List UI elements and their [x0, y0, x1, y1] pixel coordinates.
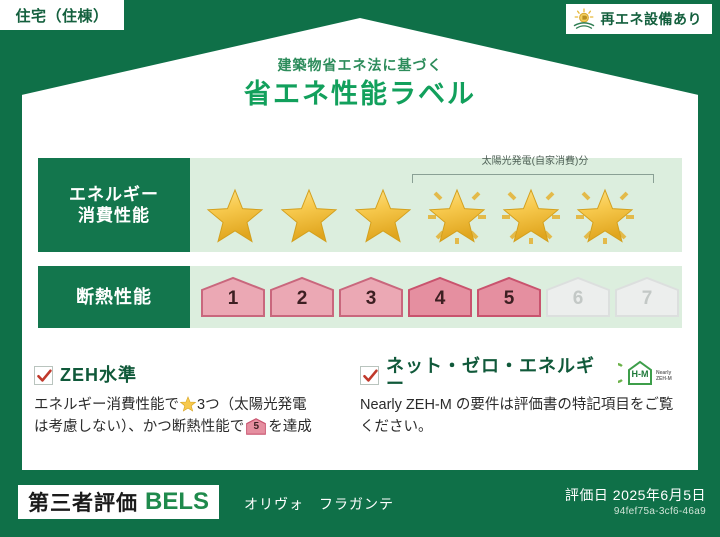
inline-house-badge-value: 5 [246, 422, 266, 432]
energy-stars-area: 太陽光発電(自家消費)分 [190, 158, 682, 252]
star-5-solar [494, 184, 568, 248]
insulation-level-5: 5 [476, 276, 542, 318]
inline-house-badge-icon: 5 [246, 418, 266, 435]
nze-checkbox[interactable] [360, 366, 379, 385]
insulation-performance-label: 断熱性能 [38, 266, 190, 328]
zeh-heading: ZEH水準 [60, 366, 137, 384]
insulation-level-4: 4 [407, 276, 473, 318]
zeh-desc-part3: を達成 [268, 419, 312, 435]
zeh-desc-part2: は考慮しない）、かつ断熱性能で [34, 419, 244, 435]
renewable-badge-label: 再エネ設備あり [601, 9, 703, 29]
zeh-desc-part1: エネルギー消費性能で [34, 397, 179, 413]
page-title: 省エネ性能ラベル [0, 81, 720, 108]
zeh-checkbox[interactable] [34, 366, 53, 385]
insulation-level-6: 6 [545, 276, 611, 318]
insulation-level-4-value: 4 [407, 289, 473, 308]
criteria-columns: ZEH水準 エネルギー消費性能で3つ（太陽光発電は考慮しない）、かつ断熱性能で5… [34, 362, 686, 462]
house-type-badge: 住宅（住棟） [0, 0, 124, 30]
zeh-heading-row: ZEH水準 [34, 362, 350, 388]
house-type-badge-label: 住宅（住棟） [15, 5, 108, 26]
evaluation-date: 評価日 2025年6月5日 [565, 485, 706, 505]
insulation-level-7-value: 7 [614, 289, 680, 308]
zeh-desc-star-count: 3つ（太陽光発電 [197, 397, 307, 413]
insulation-level-7: 7 [614, 276, 680, 318]
insulation-scale-area: 1 2 3 4 [190, 266, 682, 328]
solar-bracket [412, 160, 654, 184]
insulation-performance-row: 断熱性能 1 2 [38, 266, 682, 328]
energy-label-line2: 消費性能 [78, 205, 150, 226]
sun-icon [572, 8, 596, 30]
renewable-equipment-badge: 再エネ設備あり [566, 4, 713, 34]
insulation-level-2-value: 2 [269, 289, 335, 308]
insulation-level-1-value: 1 [200, 289, 266, 308]
energy-performance-label: エネルギー 消費性能 [38, 158, 190, 252]
star-3 [346, 184, 420, 248]
svg-text:H-M: H-M [632, 369, 649, 379]
star-rating [198, 184, 678, 248]
insulation-level-5-value: 5 [476, 289, 542, 308]
nze-description: Nearly ZEH-M の要件は評価書の特記項目をご覧ください。 [360, 394, 676, 439]
insulation-scale: 1 2 3 4 [200, 266, 678, 328]
nze-criteria-column: ネット・ゼロ・エネルギー H-M Nearly ZEH-M Nearly ZEH… [360, 362, 686, 462]
star-6-solar [568, 184, 642, 248]
zeh-description: エネルギー消費性能で3つ（太陽光発電は考慮しない）、かつ断熱性能で5を達成 [34, 394, 350, 439]
energy-performance-row: エネルギー 消費性能 太陽光発電(自家消費)分 [38, 158, 682, 252]
nze-heading-row: ネット・ゼロ・エネルギー H-M Nearly ZEH-M [360, 362, 676, 388]
star-1 [198, 184, 272, 248]
star-4-solar [420, 184, 494, 248]
title-subtitle: 建築物省エネ法に基づく [0, 58, 720, 72]
energy-label-line1: エネルギー [69, 184, 159, 205]
bels-energy-label: 住宅（住棟） 再エネ設備あり 建築物省エネ法に基づく 省エネ性能ラベル [0, 0, 720, 537]
nze-heading: ネット・ゼロ・エネルギー [386, 357, 606, 393]
title-block: 建築物省エネ法に基づく 省エネ性能ラベル [0, 58, 720, 108]
evaluation-hash: 94fef75a-3cf6-46a9 [614, 506, 706, 517]
insulation-level-1: 1 [200, 276, 266, 318]
inline-star-icon [180, 396, 196, 412]
bels-logo-text: BELS [145, 488, 209, 516]
building-name: オリヴォ フラガンテ [244, 494, 394, 514]
bels-certification-box: 第三者評価 BELS [18, 485, 219, 519]
footer: 第三者評価 BELS オリヴォ フラガンテ 評価日 2025年6月5日 94fe… [0, 475, 720, 537]
zeh-m-logo-icon: H-M Nearly ZEH-M [618, 359, 676, 392]
insulation-level-2: 2 [269, 276, 335, 318]
zeh-criteria-column: ZEH水準 エネルギー消費性能で3つ（太陽光発電は考慮しない）、かつ断熱性能で5… [34, 362, 360, 462]
bels-japanese-label: 第三者評価 [28, 487, 138, 517]
insulation-level-3-value: 3 [338, 289, 404, 308]
insulation-level-3: 3 [338, 276, 404, 318]
star-2 [272, 184, 346, 248]
svg-text:ZEH-M: ZEH-M [656, 376, 672, 382]
insulation-level-6-value: 6 [545, 289, 611, 308]
